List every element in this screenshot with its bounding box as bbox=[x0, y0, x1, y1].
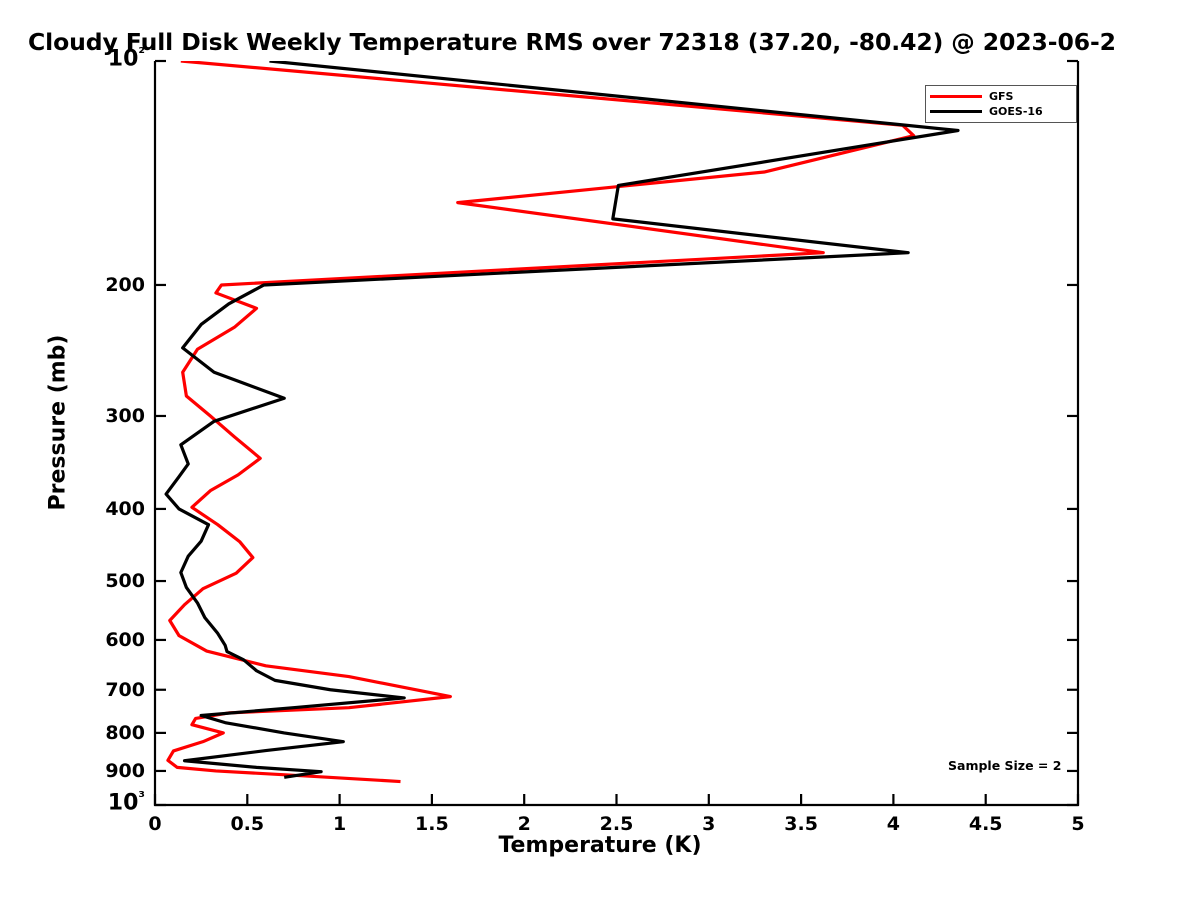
series-line-gfs bbox=[168, 61, 914, 782]
legend-swatch-icon bbox=[930, 110, 982, 113]
legend-label: GOES-16 bbox=[989, 106, 1043, 117]
series-line-goes-16 bbox=[166, 61, 958, 777]
chart-title: Cloudy Full Disk Weekly Temperature RMS … bbox=[28, 28, 1200, 56]
chart-legend: GFSGOES-16 bbox=[925, 85, 1077, 123]
legend-entry: GOES-16 bbox=[930, 104, 1070, 119]
x-axis-label: Temperature (K) bbox=[0, 833, 1200, 858]
series-lines bbox=[166, 61, 958, 782]
axes-frame bbox=[155, 61, 1078, 805]
legend-swatch-icon bbox=[930, 95, 982, 98]
legend-label: GFS bbox=[989, 91, 1013, 102]
figure-root: Cloudy Full Disk Weekly Temperature RMS … bbox=[0, 0, 1200, 900]
y-axis-label: Pressure (mb) bbox=[46, 313, 71, 533]
sample-size-annotation: Sample Size = 2 bbox=[948, 758, 1061, 773]
legend-entry: GFS bbox=[930, 89, 1070, 104]
